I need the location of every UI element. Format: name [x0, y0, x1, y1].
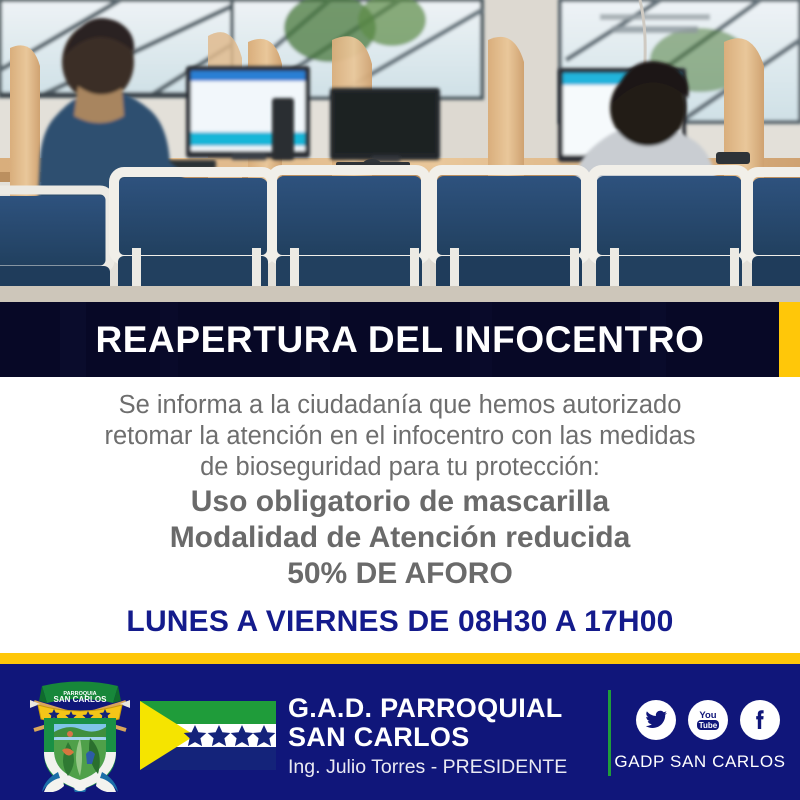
measures-list: Uso obligatorio de mascarilla Modalidad …	[50, 484, 750, 592]
org-line-2: SAN CARLOS	[288, 723, 608, 752]
social-handle-label: GADP SAN CARLOS	[600, 752, 800, 772]
measure-item-capacity: 50% DE AFORO	[50, 556, 750, 592]
svg-text:You: You	[699, 710, 716, 721]
org-line-1: G.A.D. PARROQUIAL	[288, 694, 608, 723]
twitter-icon[interactable]	[636, 700, 676, 740]
infocentro-photo	[0, 0, 800, 303]
org-president-subtitle: Ing. Julio Torres - PRESIDENTE	[288, 755, 608, 779]
title-yellow-accent	[779, 302, 800, 377]
measure-item-reduced-service: Modalidad de Atención reducida	[50, 520, 750, 556]
measure-item-mask: Uso obligatorio de mascarilla	[50, 484, 750, 520]
san-carlos-coat-of-arms: PARROQUIA SAN CARLOS	[28, 672, 132, 792]
facebook-icon[interactable]	[740, 700, 780, 740]
parish-flag	[137, 698, 279, 773]
svg-text:Tube: Tube	[699, 721, 718, 730]
paragraph-line-1: Se informa a la ciudadanía que hemos aut…	[50, 390, 750, 421]
organization-name-block: G.A.D. PARROQUIAL SAN CARLOS Ing. Julio …	[288, 694, 608, 779]
schedule-text: LUNES A VIERNES DE 08H30 A 17H00	[50, 605, 750, 639]
poster-root: REAPERTURA DEL INFOCENTRO Se informa a l…	[0, 0, 800, 800]
social-icons-group: You Tube	[630, 700, 786, 740]
footer-yellow-divider	[0, 653, 800, 664]
announcement-paragraph: Se informa a la ciudadanía que hemos aut…	[50, 390, 750, 483]
paragraph-line-2: retomar la atención en el infocentro con…	[50, 421, 750, 452]
photo-illustration	[0, 0, 800, 303]
page-title: REAPERTURA DEL INFOCENTRO	[0, 302, 800, 377]
paragraph-line-3: de bioseguridad para tu protección:	[50, 452, 750, 483]
youtube-icon[interactable]: You Tube	[688, 700, 728, 740]
crest-banner-text: SAN CARLOS	[54, 695, 108, 704]
